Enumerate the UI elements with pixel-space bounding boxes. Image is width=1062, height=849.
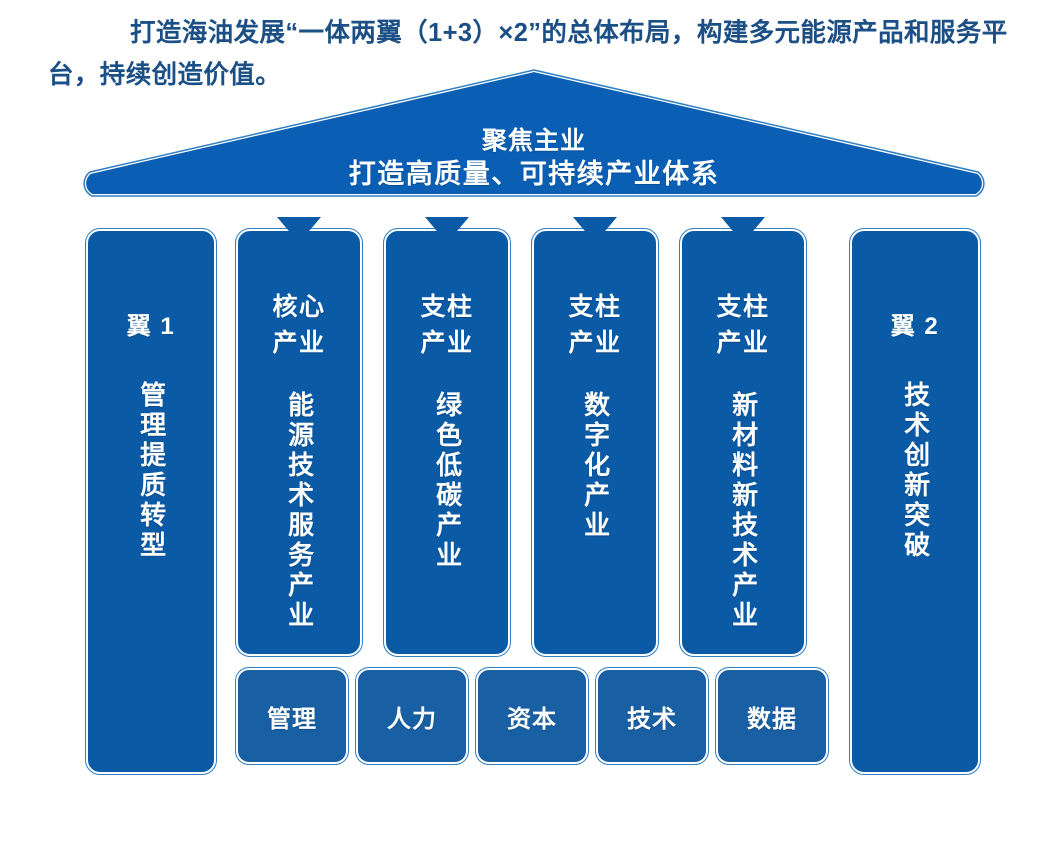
foundation-box-4-label: 技术 [627, 699, 677, 734]
roof-pediment: 聚焦主业 打造高质量、可持续产业体系 [78, 68, 990, 200]
foundation-box-5[interactable]: 数据 [716, 668, 828, 764]
foundation-box-1-label: 管理 [267, 699, 317, 734]
column-5[interactable]: 支柱 产业新材料新技术产业 [680, 229, 806, 656]
column-1-label: 管理提质转型 [137, 381, 164, 561]
foundation-box-2-label: 人力 [387, 699, 437, 734]
column-4-heading: 支柱 产业 [568, 289, 621, 361]
chevron-down-icon [425, 217, 469, 243]
column-3-label: 绿色低碳产业 [433, 391, 460, 571]
chevron-down-icon [721, 217, 765, 243]
foundation-box-3-label: 资本 [507, 699, 557, 734]
foundation-row: 管理人力资本技术数据 [78, 668, 990, 768]
foundation-box-4[interactable]: 技术 [596, 668, 708, 764]
chevron-down-icon [573, 217, 617, 243]
column-2[interactable]: 核心 产业能源技术服务产业 [236, 229, 362, 656]
column-1-heading: 翼 1 [127, 309, 176, 345]
column-4-label: 数字化产业 [581, 391, 608, 541]
foundation-box-3[interactable]: 资本 [476, 668, 588, 764]
column-2-heading: 核心 产业 [272, 289, 325, 361]
column-3[interactable]: 支柱 产业绿色低碳产业 [384, 229, 510, 656]
column-5-label: 新材料新技术产业 [729, 391, 756, 631]
column-3-heading: 支柱 产业 [420, 289, 473, 361]
column-6-label: 技术创新突破 [901, 381, 928, 561]
column-5-heading: 支柱 产业 [716, 289, 769, 361]
foundation-box-5-label: 数据 [747, 699, 797, 734]
foundation-box-2[interactable]: 人力 [356, 668, 468, 764]
foundation-box-1[interactable]: 管理 [236, 668, 348, 764]
column-2-label: 能源技术服务产业 [285, 391, 312, 631]
column-4[interactable]: 支柱 产业数字化产业 [532, 229, 658, 656]
column-6-heading: 翼 2 [891, 309, 940, 345]
roof-shape [78, 68, 990, 200]
chevron-down-icon [277, 217, 321, 243]
